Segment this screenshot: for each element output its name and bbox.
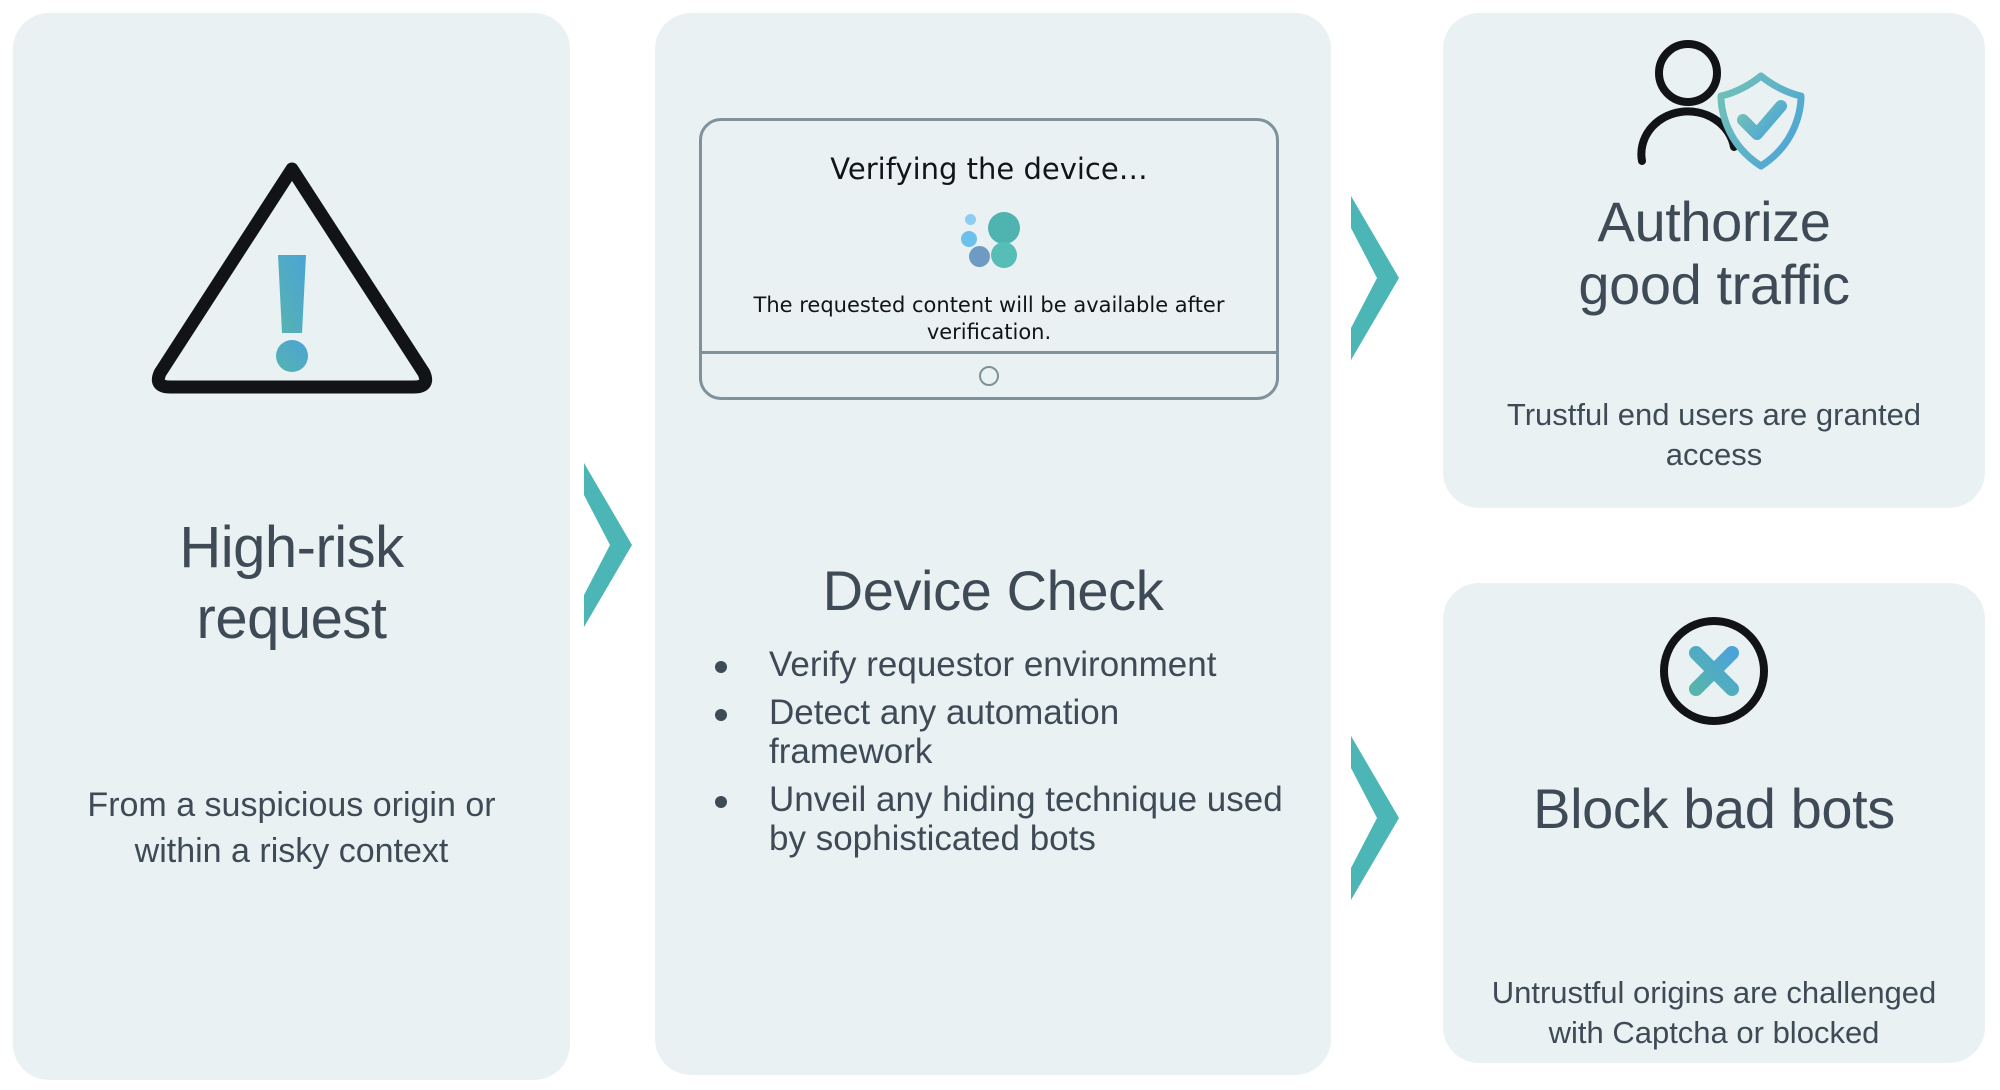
bullet-dot-icon bbox=[715, 796, 727, 808]
user-shield-check-icon bbox=[1443, 39, 1985, 174]
list-item: Detect any automation framework bbox=[711, 693, 1291, 772]
risk-title-line-1: High-risk bbox=[13, 513, 570, 584]
spinner-dot-2 bbox=[961, 231, 977, 247]
card-authorize-good-traffic: Authorize good traffic Trustful end user… bbox=[1443, 13, 1985, 508]
risk-subtitle: From a suspicious origin or within a ris… bbox=[13, 783, 570, 875]
spinner-dot-4 bbox=[988, 212, 1020, 244]
card-device-check: Verifying the device… The requested cont… bbox=[655, 13, 1331, 1075]
verifying-body-text: The requested content will be available … bbox=[702, 292, 1276, 346]
authorize-title-line-1: Authorize bbox=[1443, 191, 1985, 254]
bullet-dot-icon bbox=[715, 709, 727, 721]
card-high-risk-request: High-risk request From a suspicious orig… bbox=[13, 13, 570, 1080]
device-mockup: Verifying the device… The requested cont… bbox=[699, 118, 1279, 400]
warning-triangle-exclamation-icon bbox=[13, 143, 570, 403]
device-check-bullet-list: Verify requestor environment Detect any … bbox=[711, 645, 1291, 867]
device-screen: Verifying the device… The requested cont… bbox=[702, 121, 1276, 351]
chevron-right-icon-device-to-authorize bbox=[1345, 188, 1405, 373]
circle-x-icon bbox=[1443, 615, 1985, 727]
home-button-circle-icon[interactable] bbox=[979, 366, 999, 386]
list-item: Unveil any hiding technique used by soph… bbox=[711, 780, 1291, 859]
authorize-subtitle: Trustful end users are granted access bbox=[1443, 395, 1985, 476]
bullet-dot-icon bbox=[715, 661, 727, 673]
card-block-bad-bots: Block bad bots Untrustful origins are ch… bbox=[1443, 583, 1985, 1063]
spinner-dot-1 bbox=[965, 214, 976, 225]
block-subtitle: Untrustful origins are challenged with C… bbox=[1443, 973, 1985, 1054]
risk-title-line-2: request bbox=[13, 584, 570, 655]
authorize-title-line-2: good traffic bbox=[1443, 254, 1985, 317]
flow-diagram: High-risk request From a suspicious orig… bbox=[0, 0, 2000, 1090]
page-title-block: Block bad bots bbox=[1443, 778, 1985, 841]
chevron-right-icon-device-to-block bbox=[1345, 728, 1405, 913]
chevron-right-icon-risk-to-device bbox=[578, 455, 638, 640]
page-title-high-risk: High-risk request bbox=[13, 513, 570, 655]
spinner-dot-3 bbox=[969, 246, 990, 267]
page-title-device-check: Device Check bbox=[655, 558, 1331, 623]
device-bottom-bar bbox=[702, 351, 1276, 397]
list-item-label: Detect any automation framework bbox=[769, 693, 1119, 772]
spinner-dot-5 bbox=[991, 242, 1017, 268]
page-title-authorize: Authorize good traffic bbox=[1443, 191, 1985, 316]
list-item: Verify requestor environment bbox=[711, 645, 1291, 685]
loading-dots-spinner-icon bbox=[958, 212, 1020, 266]
list-item-label: Verify requestor environment bbox=[769, 645, 1216, 684]
verifying-heading: Verifying the device… bbox=[830, 152, 1147, 186]
list-item-label: Unveil any hiding technique used by soph… bbox=[769, 780, 1283, 859]
